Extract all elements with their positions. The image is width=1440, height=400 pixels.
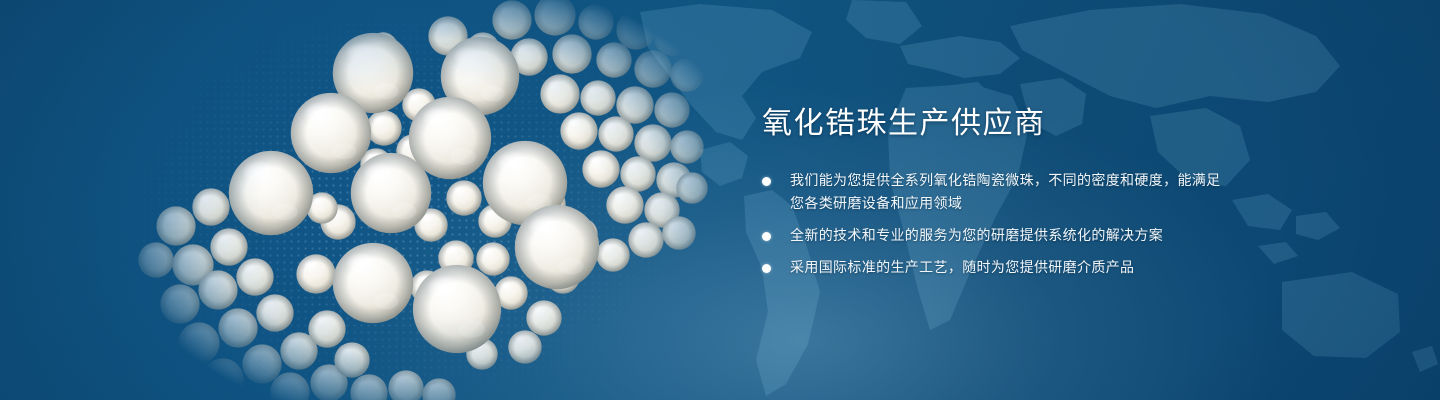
page-title: 氧化锆珠生产供应商 [762, 104, 1232, 144]
list-item: 采用国际标准的生产工艺，随时为您提供研磨介质产品 [762, 257, 1232, 280]
zirconia-beads-photo [110, 0, 730, 400]
list-item-text: 采用国际标准的生产工艺，随时为您提供研磨介质产品 [790, 260, 1134, 276]
bullet-dot-icon [762, 177, 771, 186]
bullet-dot-icon [762, 232, 771, 241]
hero-banner: 氧化锆珠生产供应商 我们能为您提供全系列氧化锆陶瓷微珠，不同的密度和硬度，能满足… [0, 0, 1440, 400]
list-item-text: 我们能为您提供全系列氧化锆陶瓷微珠，不同的密度和硬度，能满足您各类研磨设备和应用… [790, 173, 1221, 212]
banner-copy: 氧化锆珠生产供应商 我们能为您提供全系列氧化锆陶瓷微珠，不同的密度和硬度，能满足… [762, 104, 1232, 280]
list-item-text: 全新的技术和专业的服务为您的研磨提供系统化的解决方案 [790, 228, 1163, 244]
bullet-dot-icon [762, 264, 771, 273]
feature-list: 我们能为您提供全系列氧化锆陶瓷微珠，不同的密度和硬度，能满足您各类研磨设备和应用… [762, 170, 1232, 280]
list-item: 全新的技术和专业的服务为您的研磨提供系统化的解决方案 [762, 225, 1232, 248]
list-item: 我们能为您提供全系列氧化锆陶瓷微珠，不同的密度和硬度，能满足您各类研磨设备和应用… [762, 170, 1232, 216]
